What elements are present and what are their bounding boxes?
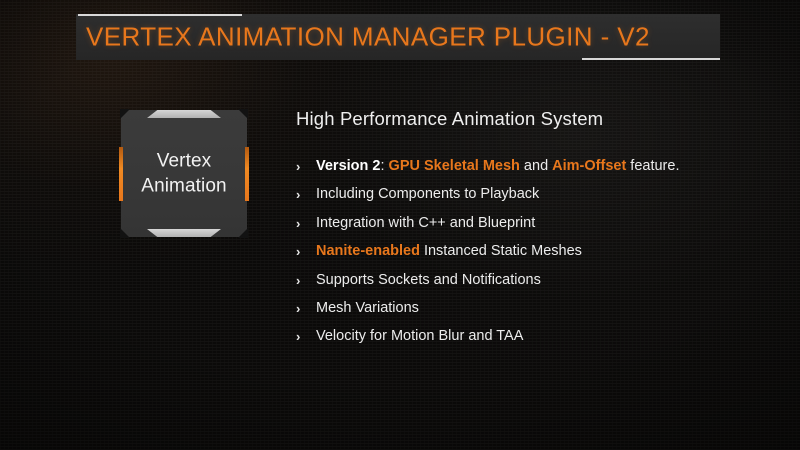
card-corner-top-left-icon	[120, 109, 130, 119]
chevron-right-icon: ›	[296, 272, 305, 289]
banner-rule-bottom	[582, 58, 720, 60]
list-item: ›Integration with C++ and Blueprint	[296, 215, 766, 232]
list-item-label: Nanite-enabled Instanced Static Meshes	[316, 243, 766, 260]
text-segment: feature.	[626, 158, 679, 174]
vertex-animation-logo-card: Vertex Animation	[121, 110, 247, 237]
banner-rule-top	[78, 14, 242, 16]
chevron-right-icon: ›	[296, 186, 305, 203]
text-segment: Integration with C++ and Blueprint	[316, 215, 535, 231]
chevron-right-icon: ›	[296, 215, 305, 232]
list-item: ›Mesh Variations	[296, 300, 766, 317]
card-tab-top-icon	[147, 110, 221, 118]
list-item: ›Version 2: GPU Skeletal Mesh and Aim-Of…	[296, 158, 766, 175]
text-segment: Aim-Offset	[552, 158, 626, 174]
chevron-right-icon: ›	[296, 243, 305, 260]
text-segment: :	[380, 158, 388, 174]
chevron-right-icon: ›	[296, 300, 305, 317]
text-segment: Nanite-enabled	[316, 243, 420, 259]
page-title: VERTEX ANIMATION MANAGER PLUGIN - V2	[86, 22, 650, 53]
list-item: ›Velocity for Motion Blur and TAA	[296, 328, 766, 345]
section-subtitle: High Performance Animation System	[296, 108, 766, 130]
content-column: High Performance Animation System ›Versi…	[296, 108, 766, 357]
text-segment: Instanced Static Meshes	[420, 243, 582, 259]
text-segment: Including Components to Playback	[316, 186, 539, 202]
card-corner-bottom-right-icon	[238, 228, 248, 238]
card-corner-bottom-left-icon	[120, 228, 130, 238]
text-segment: Velocity for Motion Blur and TAA	[316, 328, 523, 344]
text-segment: and	[520, 158, 552, 174]
list-item: ›Supports Sockets and Notifications	[296, 272, 766, 289]
list-item-label: Integration with C++ and Blueprint	[316, 215, 766, 232]
list-item-label: Version 2: GPU Skeletal Mesh and Aim-Off…	[316, 158, 766, 175]
feature-bullet-list: ›Version 2: GPU Skeletal Mesh and Aim-Of…	[296, 158, 766, 346]
list-item: ›Nanite-enabled Instanced Static Meshes	[296, 243, 766, 260]
card-corner-top-right-icon	[238, 109, 248, 119]
chevron-right-icon: ›	[296, 158, 305, 175]
list-item: ›Including Components to Playback	[296, 186, 766, 203]
logo-card-label: Vertex Animation	[121, 148, 247, 199]
list-item-label: Velocity for Motion Blur and TAA	[316, 328, 766, 345]
text-segment: Supports Sockets and Notifications	[316, 272, 541, 288]
card-tab-bottom-icon	[147, 229, 221, 237]
list-item-label: Including Components to Playback	[316, 186, 766, 203]
logo-card-line-1: Vertex	[121, 148, 247, 173]
title-banner: VERTEX ANIMATION MANAGER PLUGIN - V2	[76, 14, 720, 60]
text-segment: Version 2	[316, 158, 380, 174]
text-segment: GPU Skeletal Mesh	[389, 158, 520, 174]
text-segment: Mesh Variations	[316, 300, 419, 316]
list-item-label: Supports Sockets and Notifications	[316, 272, 766, 289]
chevron-right-icon: ›	[296, 328, 305, 345]
logo-card-line-2: Animation	[121, 174, 247, 199]
list-item-label: Mesh Variations	[316, 300, 766, 317]
